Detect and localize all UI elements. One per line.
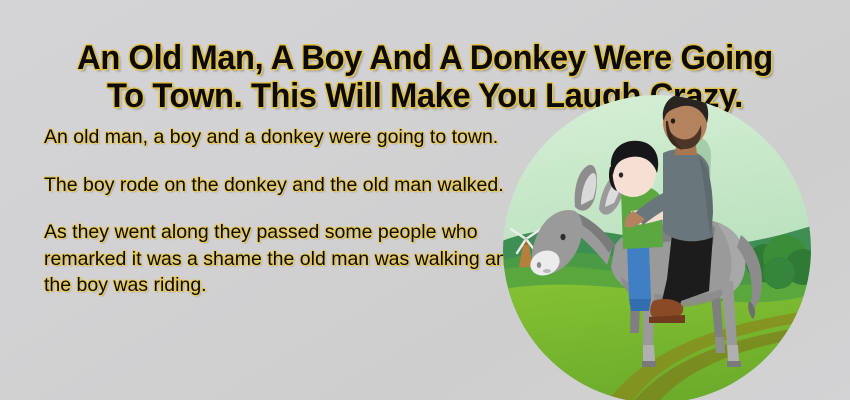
- boy-eye: [619, 172, 623, 177]
- story-paragraph: The boy rode on the donkey and the old m…: [44, 172, 536, 199]
- headline-line-1: An Old Man, A Boy And A Donkey Were Goin…: [38, 39, 812, 77]
- donkey-illustration: [503, 95, 811, 400]
- poster-canvas: An Old Man, A Boy And A Donkey Were Goin…: [0, 0, 850, 400]
- man-eye: [671, 118, 675, 123]
- scene-group: [503, 95, 811, 400]
- boy-pants: [627, 245, 651, 299]
- story-paragraph: As they went along they passed some peop…: [44, 219, 536, 299]
- illustration-svg: [503, 95, 811, 400]
- story-body: An old man, a boy and a donkey were goin…: [44, 124, 536, 299]
- story-paragraph: An old man, a boy and a donkey were goin…: [44, 124, 536, 151]
- donkey-eye: [560, 234, 565, 240]
